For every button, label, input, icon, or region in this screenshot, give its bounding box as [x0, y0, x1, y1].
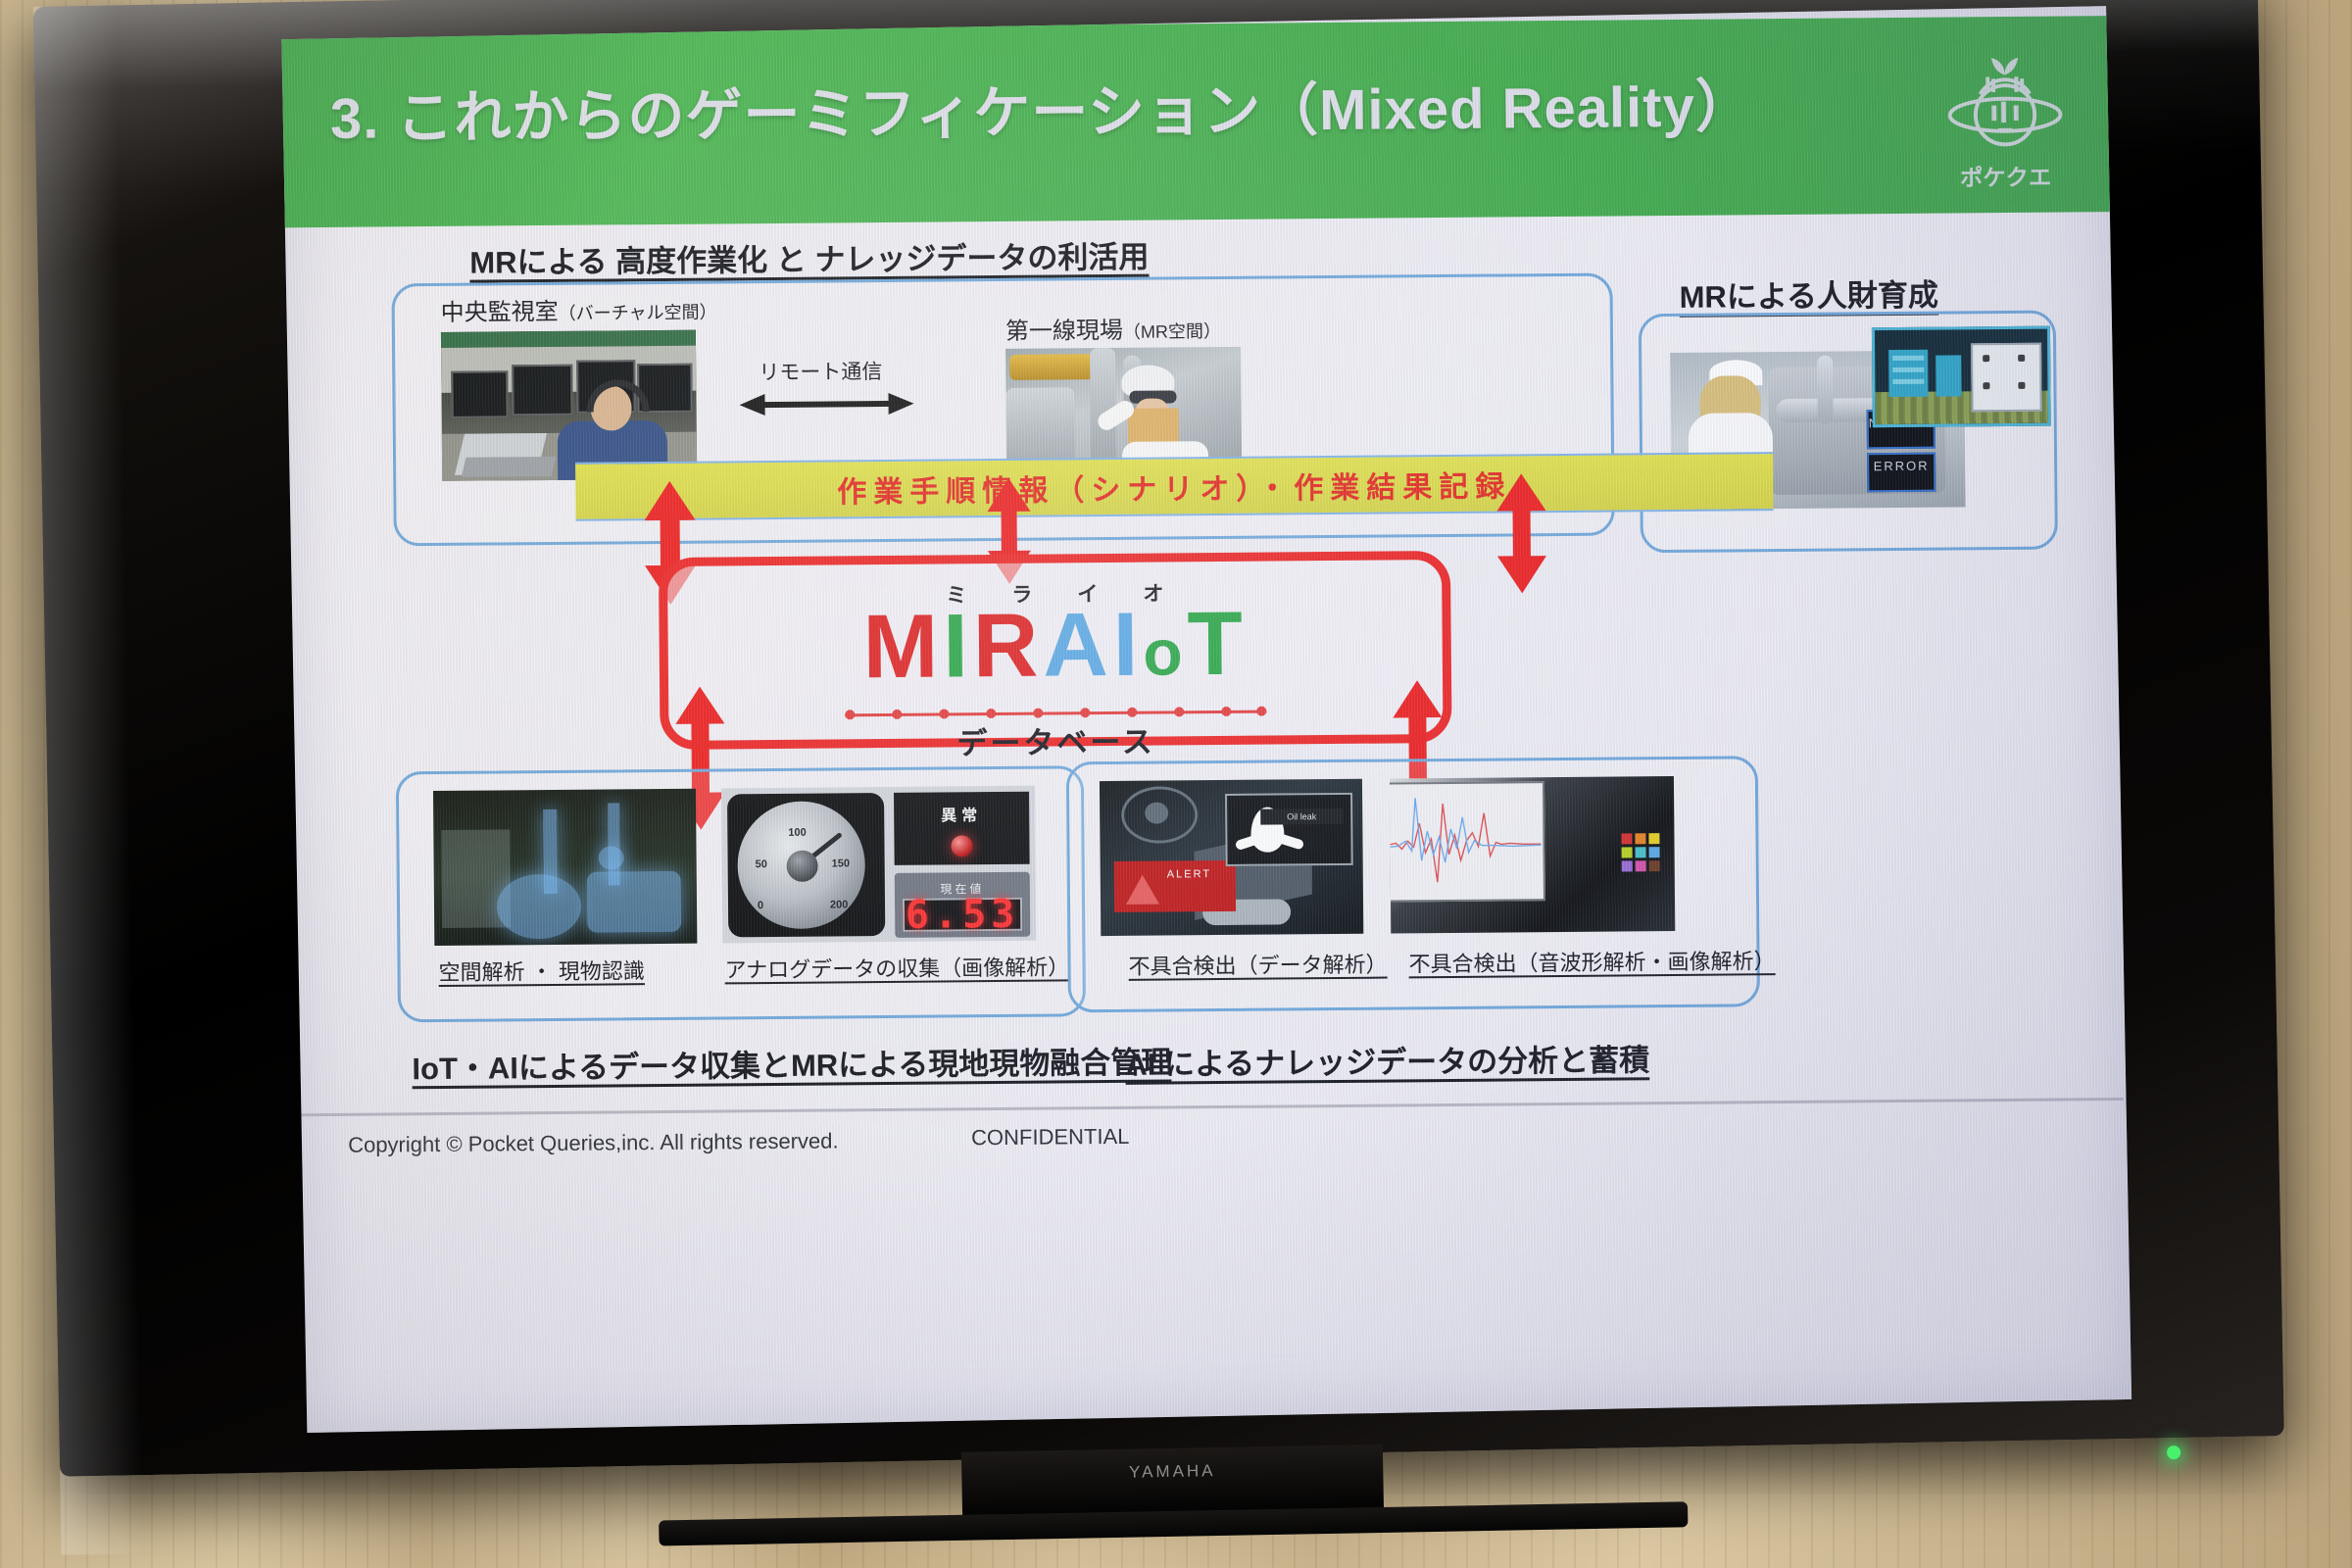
control-room-caption-main: 中央監視室	[441, 299, 559, 326]
footer-divider	[285, 1098, 2124, 1116]
confidential-label: CONFIDENTIAL	[971, 1124, 1130, 1151]
top-left-heading: MRによる 高度作業化 と ナレッジデータの利活用	[469, 232, 1149, 282]
current-value-readout: 6.53	[903, 898, 1022, 932]
current-value-box: 現在値 6.53	[895, 872, 1031, 938]
miraiot-wordmark: MIRAIoT	[667, 597, 1443, 694]
power-led-indicator	[2167, 1445, 2180, 1459]
field-site-caption-main: 第一線現場	[1005, 318, 1123, 345]
defect-data-caption: 不具合検出（データ解析）	[1128, 948, 1387, 981]
miraiot-letter-2: R	[972, 596, 1043, 697]
pocket-queries-logo: ポケクエ	[1937, 51, 2072, 195]
remote-communication-arrow	[739, 391, 913, 418]
acoustic-waveform-chart	[1390, 781, 1545, 902]
remote-communication-label: リモート通信	[759, 356, 882, 386]
control-room-caption-sub: （バーチャル空間）	[559, 302, 717, 322]
miraiot-letter-5: o	[1143, 615, 1188, 688]
bottom-left-heading: IoT・AIによるデータ収集とMRによる現地現物融合管理	[412, 1037, 1171, 1088]
tv-brand-label: YAMAHA	[1111, 1461, 1233, 1483]
gauge-tick-100: 100	[788, 827, 806, 839]
oil-leak-label: Oil leak	[1260, 808, 1343, 825]
analog-data-caption: アナログデータの収集（画像解析）	[724, 950, 1069, 984]
gauge-tick-0: 0	[758, 900, 763, 911]
defect-detection-photo: ALERT Oil leak	[1100, 779, 1363, 936]
spatial-analysis-caption: 空間解析 ・ 現物認識	[438, 954, 645, 987]
miraiot-letter-4: I	[1112, 595, 1143, 695]
workflow-data-bar: 作業手順情報（シナリオ）・作業結果記録	[575, 452, 1773, 521]
waveform-analysis-photo	[1390, 776, 1675, 934]
presentation-slide: 3. これからのゲーミフィケーション（Mixed Reality）	[281, 16, 2126, 1433]
miraiot-letter-1: I	[943, 596, 973, 696]
miraiot-letter-0: M	[862, 596, 944, 697]
bottom-right-heading: AI によるナレッジデータの分析と蓄積	[1125, 1035, 1649, 1084]
tv-screen: 3. これからのゲーミフィケーション（Mixed Reality）	[281, 6, 2131, 1433]
oil-leak-popup: Oil leak	[1225, 793, 1353, 866]
control-room-photo	[441, 330, 697, 481]
alert-label: ALERT	[1167, 868, 1211, 880]
field-site-caption-sub: （MR空間）	[1123, 321, 1221, 342]
miraiot-letter-6: T	[1187, 594, 1248, 695]
miraiot-subtitle: データベース	[668, 714, 1443, 765]
defect-acoustic-caption: 不具合検出（音波形解析・画像解析）	[1408, 944, 1775, 978]
field-site-caption: 第一線現場（MR空間）	[1005, 310, 1221, 346]
gauge-tick-150: 150	[832, 857, 850, 869]
copyright-text: Copyright © Pocket Queries,inc. All righ…	[348, 1128, 839, 1157]
hud-error: ERROR	[1867, 453, 1935, 493]
miraiot-database-box: ミライオ MIRAIoT データベース	[659, 551, 1452, 750]
workflow-data-bar-text: 作業手順情報（シナリオ）・作業結果記録	[575, 460, 1773, 514]
alarm-label: 異常	[894, 802, 1029, 826]
top-right-heading: MRによる人財育成	[1679, 270, 1938, 317]
gauge-tick-50: 50	[756, 858, 767, 870]
alarm-led	[951, 835, 972, 857]
svg-text:ポケクエ: ポケクエ	[1960, 164, 2051, 191]
alarm-indicator-box: 異常	[894, 792, 1030, 865]
gauge-tick-200: 200	[830, 899, 848, 910]
analog-gauge-photo: 100 50 150 0 200 異常 現在値 6.53	[721, 786, 1036, 944]
miraiot-letter-3: A	[1043, 595, 1113, 696]
arrow-db-to-training	[1493, 473, 1550, 594]
control-room-caption: 中央監視室（バーチャル空間）	[441, 290, 717, 326]
slide-title: 3. これからのゲーミフィケーション（Mixed Reality）	[330, 60, 1754, 155]
television-set: 3. これからのゲーミフィケーション（Mixed Reality）	[33, 0, 2286, 1555]
vr-simulation-photo	[1872, 326, 2051, 428]
spatial-analysis-photo	[433, 789, 697, 946]
slide-header: 3. これからのゲーミフィケーション（Mixed Reality）	[281, 16, 2116, 227]
alert-badge: ALERT	[1114, 860, 1236, 912]
